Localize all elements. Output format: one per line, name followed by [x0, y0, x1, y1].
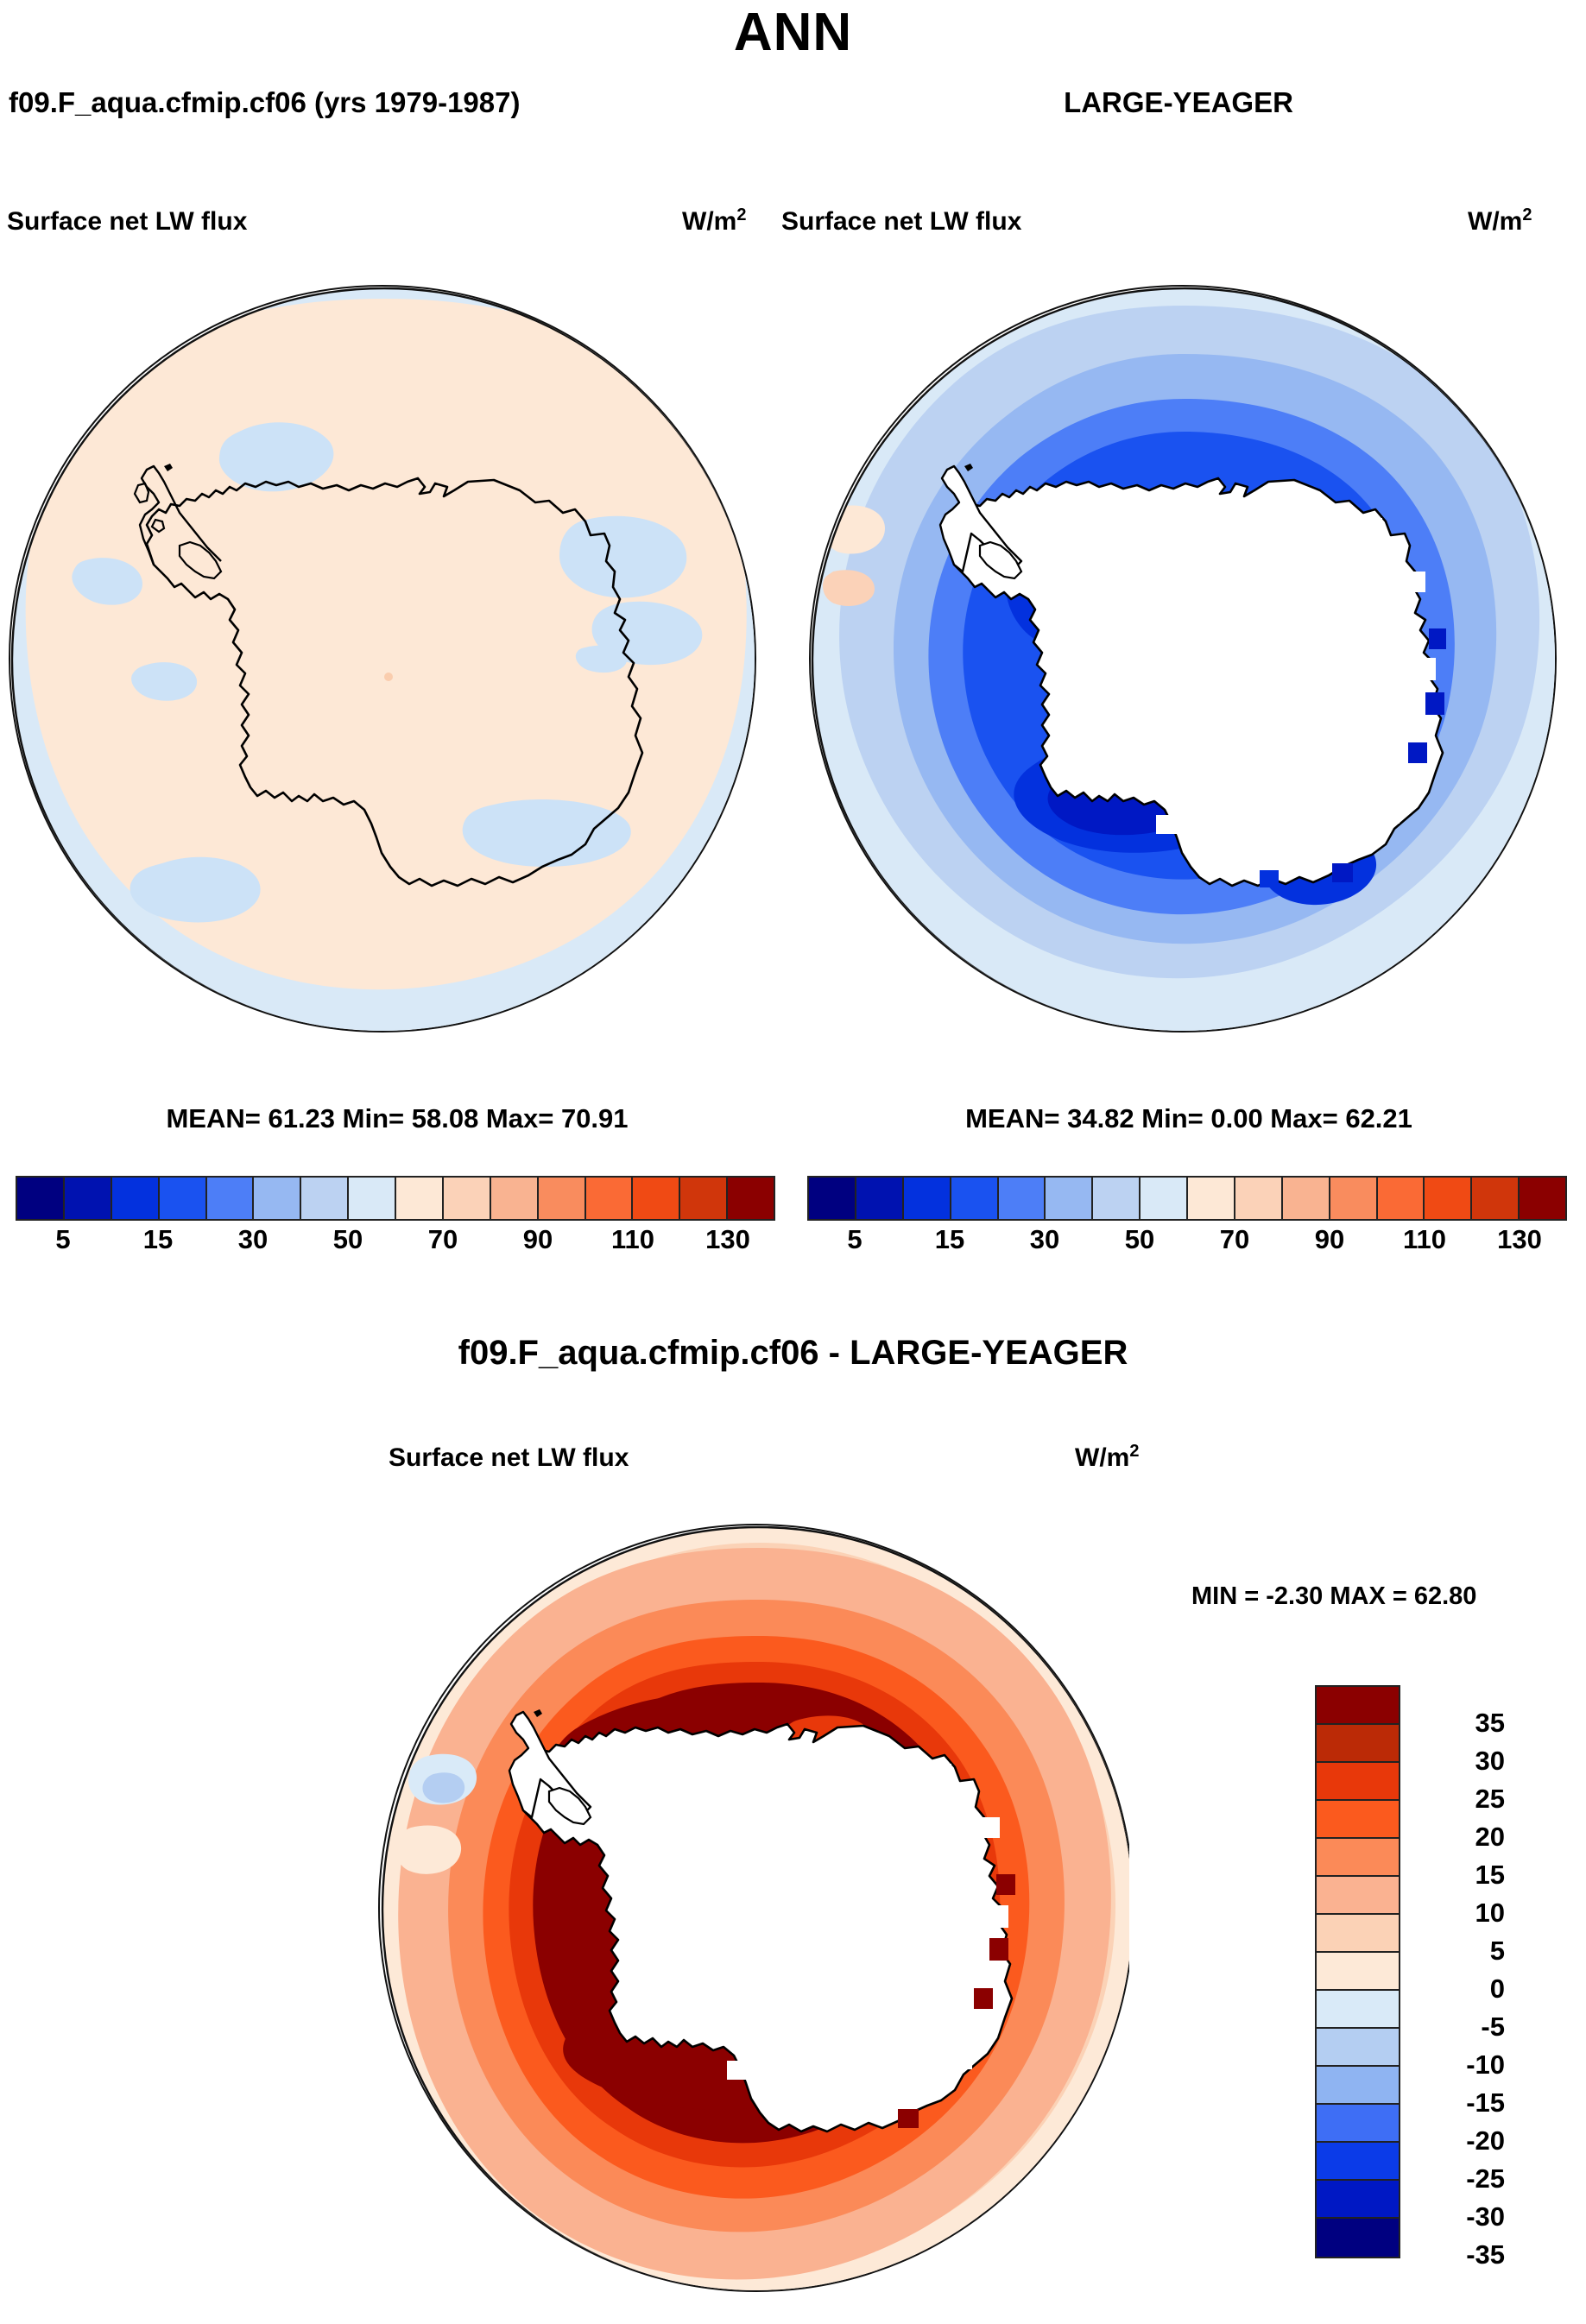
colorbar-tick-label: -15 — [1410, 2087, 1505, 2119]
colorbar-swatch — [680, 1178, 728, 1219]
difference-title: f09.F_aqua.cfmip.cf06 - LARGE-YEAGER — [0, 1334, 1586, 1373]
colorbar-swatch — [301, 1178, 349, 1219]
difference-units-label: W/m2 — [1075, 1443, 1139, 1473]
colorbar-swatch — [1317, 2219, 1399, 2257]
colorbar-swatch — [1317, 1725, 1399, 1763]
colorbar-swatch — [254, 1178, 301, 1219]
colorbar-tick-label: 30 — [238, 1224, 268, 1255]
right-case-title: LARGE-YEAGER — [997, 86, 1360, 119]
colorbar-tick-label: 15 — [1410, 1860, 1505, 1891]
colorbar-swatch — [1317, 1991, 1399, 2029]
colorbar-difference-ticks: 35302520151050-5-10-15-20-25-30-35 — [1410, 1685, 1513, 2293]
map-observation — [800, 281, 1560, 1040]
colorbar-swatch — [1330, 1178, 1378, 1219]
colorbar-swatch — [1317, 2105, 1399, 2143]
colorbar-tick-label: 0 — [1410, 1974, 1505, 2005]
left-variable-label: Surface net LW flux — [7, 207, 247, 237]
colorbar-swatch — [1093, 1178, 1141, 1219]
colorbar-swatch — [207, 1178, 255, 1219]
colorbar-tick-label: 20 — [1410, 1822, 1505, 1853]
colorbar-tick-label: -20 — [1410, 2125, 1505, 2157]
colorbar-swatch — [1317, 1801, 1399, 1839]
colorbar-tick-label: 5 — [55, 1224, 70, 1255]
colorbar-swatch — [1317, 2067, 1399, 2105]
colorbar-swatch — [633, 1178, 680, 1219]
difference-units-base: W/m — [1075, 1443, 1129, 1472]
colorbar-tick-label: 5 — [1410, 1936, 1505, 1967]
colorbar-swatch — [1317, 1839, 1399, 1877]
colorbar-swatch — [586, 1178, 634, 1219]
colorbar-model: 51530507090110130 — [16, 1176, 775, 1260]
colorbar-tick-label: 35 — [1410, 1708, 1505, 1739]
colorbar-tick-label: 30 — [1030, 1224, 1059, 1255]
colorbar-tick-label: 70 — [428, 1224, 458, 1255]
colorbar-swatch — [1317, 2143, 1399, 2181]
left-units-exponent: 2 — [736, 205, 746, 224]
difference-variable-label: Surface net LW flux — [389, 1443, 629, 1473]
colorbar-swatch — [1317, 1877, 1399, 1915]
left-case-title: f09.F_aqua.cfmip.cf06 (yrs 1979-1987) — [9, 86, 520, 119]
globe-observation — [809, 285, 1557, 1033]
right-units-exponent: 2 — [1522, 205, 1532, 224]
difference-minmax: MIN = -2.30 MAX = 62.80 — [1191, 1582, 1476, 1611]
colorbar-swatch — [1520, 1178, 1565, 1219]
colorbar-swatch — [1235, 1178, 1283, 1219]
colorbar-difference-swatches — [1315, 1685, 1400, 2258]
colorbar-swatch — [1317, 1915, 1399, 1953]
colorbar-tick-label: 25 — [1410, 1784, 1505, 1815]
colorbar-swatch — [1472, 1178, 1520, 1219]
colorbar-tick-label: 130 — [1497, 1224, 1542, 1255]
colorbar-swatch — [1141, 1178, 1188, 1219]
colorbar-tick-label: 90 — [1315, 1224, 1344, 1255]
colorbar-swatch — [160, 1178, 207, 1219]
colorbar-tick-label: 110 — [1403, 1224, 1446, 1255]
globe-model — [9, 285, 756, 1033]
colorbar-swatch — [1188, 1178, 1235, 1219]
colorbar-swatch — [65, 1178, 112, 1219]
right-units-base: W/m — [1468, 207, 1522, 236]
colorbar-observation-swatches — [807, 1176, 1567, 1221]
map-difference — [370, 1519, 1129, 2296]
colorbar-swatch — [1317, 1763, 1399, 1801]
colorbar-swatch — [491, 1178, 539, 1219]
right-units-label: W/m2 — [1468, 207, 1532, 237]
colorbar-swatch — [1317, 1953, 1399, 1991]
colorbar-tick-label: -5 — [1410, 2011, 1505, 2043]
colorbar-tick-label: 130 — [705, 1224, 750, 1255]
colorbar-swatch — [444, 1178, 491, 1219]
colorbar-swatch — [112, 1178, 160, 1219]
left-units-label: W/m2 — [682, 207, 746, 237]
colorbar-model-swatches — [16, 1176, 775, 1221]
colorbar-tick-label: 10 — [1410, 1898, 1505, 1929]
colorbar-tick-label: 90 — [523, 1224, 553, 1255]
page-title: ANN — [0, 2, 1586, 63]
colorbar-model-ticks: 51530507090110130 — [16, 1221, 775, 1260]
map-model — [0, 281, 760, 1040]
colorbar-tick-label: 50 — [333, 1224, 363, 1255]
colorbar-tick-label: -30 — [1410, 2201, 1505, 2232]
colorbar-swatch — [1378, 1178, 1425, 1219]
colorbar-swatch — [904, 1178, 951, 1219]
colorbar-tick-label: 70 — [1220, 1224, 1249, 1255]
globe-difference — [378, 1524, 1129, 2292]
colorbar-swatch — [17, 1178, 65, 1219]
colorbar-swatch — [999, 1178, 1046, 1219]
colorbar-swatch — [539, 1178, 586, 1219]
colorbar-tick-label: 5 — [847, 1224, 862, 1255]
colorbar-swatch — [1317, 1687, 1399, 1725]
colorbar-tick-label: 110 — [611, 1224, 654, 1255]
difference-units-exponent: 2 — [1129, 1442, 1139, 1461]
right-variable-label: Surface net LW flux — [781, 207, 1021, 237]
colorbar-observation: 51530507090110130 — [807, 1176, 1567, 1260]
left-stats: MEAN= 61.23 Min= 58.08 Max= 70.91 — [0, 1103, 794, 1134]
colorbar-tick-label: -35 — [1410, 2239, 1505, 2270]
colorbar-swatch — [1317, 2029, 1399, 2067]
colorbar-swatch — [856, 1178, 904, 1219]
colorbar-tick-label: -10 — [1410, 2049, 1505, 2081]
colorbar-swatch — [1425, 1178, 1472, 1219]
colorbar-swatch — [1046, 1178, 1093, 1219]
colorbar-tick-label: 15 — [143, 1224, 173, 1255]
colorbar-tick-label: 30 — [1410, 1746, 1505, 1777]
colorbar-difference: 35302520151050-5-10-15-20-25-30-35 — [1315, 1685, 1400, 2258]
colorbar-tick-label: -25 — [1410, 2163, 1505, 2195]
colorbar-swatch — [809, 1178, 856, 1219]
right-stats: MEAN= 34.82 Min= 0.00 Max= 62.21 — [792, 1103, 1586, 1134]
colorbar-swatch — [349, 1178, 396, 1219]
colorbar-swatch — [396, 1178, 444, 1219]
left-units-base: W/m — [682, 207, 736, 236]
colorbar-swatch — [951, 1178, 999, 1219]
colorbar-observation-ticks: 51530507090110130 — [807, 1221, 1567, 1260]
colorbar-swatch — [1317, 2181, 1399, 2219]
colorbar-swatch — [1283, 1178, 1330, 1219]
colorbar-swatch — [728, 1178, 774, 1219]
colorbar-tick-label: 15 — [935, 1224, 964, 1255]
colorbar-tick-label: 50 — [1125, 1224, 1154, 1255]
